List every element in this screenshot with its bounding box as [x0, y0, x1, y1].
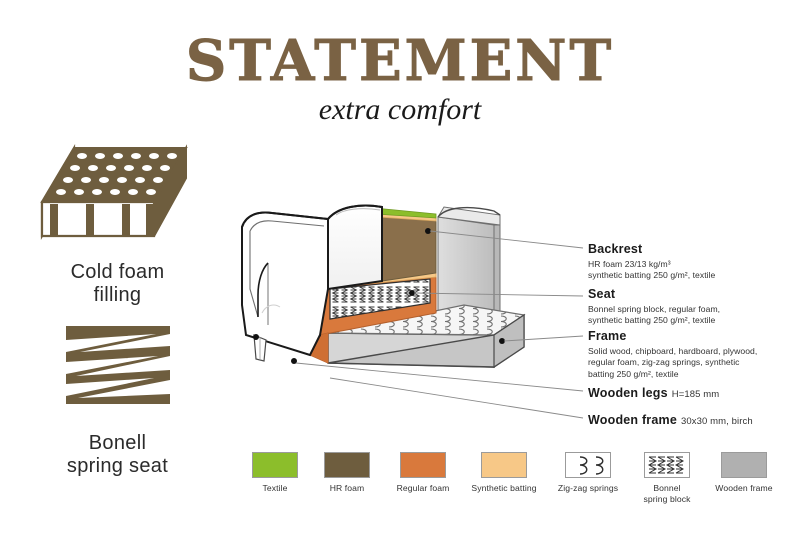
cold-foam-block-icon: [10, 140, 225, 255]
infographic-page: STATEMENT extra comfort: [0, 0, 800, 533]
legend-label-hr-foam: HR foam: [312, 483, 382, 494]
legend-label-zigzag-springs: Zig-zag springs: [546, 483, 630, 494]
legend-swatch-synthetic-batting: [481, 452, 527, 478]
callout-seat-title: Seat: [588, 287, 615, 301]
legend-item-bonnel-spring-block: Bonnel spring block: [630, 452, 704, 504]
feature-bonell-line1: Bonell: [89, 432, 146, 454]
legend-item-zigzag-springs: Zig-zag springs: [546, 452, 630, 494]
legend-swatch-zigzag-springs: [565, 452, 611, 478]
legend-swatch-hr-foam: [324, 452, 370, 478]
feature-bonell-caption: Bonell spring seat: [10, 432, 225, 478]
legend-swatch-wooden-frame: [721, 452, 767, 478]
legend-item-synthetic-batting: Synthetic batting: [462, 452, 546, 494]
page-title: STATEMENT: [0, 33, 800, 89]
legend-label-wooden-frame: Wooden frame: [704, 483, 784, 494]
callout-frame-title: Frame: [588, 329, 627, 343]
callout-frame-body-line2: regular foam, zig-zag springs, synthetic: [588, 357, 740, 367]
callout-frame-body-line1: Solid wood, chipboard, hardboard, plywoo…: [588, 346, 757, 356]
legend-label-bonnel-spring-block: Bonnel spring block: [630, 483, 704, 504]
callout-dot-seat: [409, 290, 415, 296]
callout-wooden-frame-spec: 30x30 mm, birch: [677, 416, 753, 427]
callout-backrest: Backrest HR foam 23/13 kg/m³ synthetic b…: [588, 240, 715, 282]
legend-item-regular-foam: Regular foam: [384, 452, 462, 494]
legend-item-wooden-frame: Wooden frame: [704, 452, 784, 494]
materials-legend: Textile HR foam Regular foam Synthetic b…: [240, 452, 800, 522]
legend-item-hr-foam: HR foam: [312, 452, 382, 494]
callout-backrest-body-line1: HR foam 23/13 kg/m³: [588, 259, 671, 269]
feature-bonell-line2: spring seat: [67, 455, 168, 477]
callout-backrest-title: Backrest: [588, 242, 642, 256]
legend-label-regular-foam: Regular foam: [384, 483, 462, 494]
callout-wooden-legs: Wooden legsH=185 mm: [588, 384, 719, 402]
callout-dot-backrest: [425, 228, 431, 234]
callout-backrest-body-line2: synthetic batting 250 g/m², textile: [588, 270, 715, 280]
legend-label-synthetic-batting: Synthetic batting: [462, 483, 546, 494]
callout-wooden-frame-title: Wooden frame: [588, 413, 677, 427]
feature-cold-foam-caption: Cold foam filling: [10, 261, 225, 307]
feature-cold-foam-line1: Cold foam: [71, 261, 165, 283]
callout-frame-body: Solid wood, chipboard, hardboard, plywoo…: [588, 346, 757, 380]
callout-wooden-frame: Wooden frame30x30 mm, birch: [588, 411, 753, 429]
callout-dot-frame-right: [499, 338, 505, 344]
callout-dot-legs: [253, 334, 259, 340]
callout-seat: Seat Bonnel spring block, regular foam, …: [588, 285, 720, 327]
callout-frame-body-line3: batting 250 g/m², textile: [588, 369, 679, 379]
callout-seat-body-line1: Bonnel spring block, regular foam,: [588, 304, 720, 314]
callout-seat-body-line2: synthetic batting 250 g/m², textile: [588, 315, 715, 325]
feature-cold-foam-line2: filling: [94, 284, 142, 306]
zigzag-spring-icon: [10, 318, 225, 418]
sofa-cutaway-illustration: [232, 185, 592, 415]
legend-swatch-bonnel-spring-block: [644, 452, 690, 478]
callout-wooden-legs-spec: H=185 mm: [668, 389, 720, 400]
legend-item-textile: Textile: [240, 452, 310, 494]
feature-bonell-spring: Bonell spring seat: [10, 318, 225, 478]
feature-cold-foam: Cold foam filling: [10, 140, 225, 307]
callout-backrest-body: HR foam 23/13 kg/m³ synthetic batting 25…: [588, 259, 715, 282]
legend-swatch-textile: [252, 452, 298, 478]
callout-seat-body: Bonnel spring block, regular foam, synth…: [588, 304, 720, 327]
legend-swatch-regular-foam: [400, 452, 446, 478]
callout-dot-frame: [291, 358, 297, 364]
page-subtitle: extra comfort: [0, 95, 800, 125]
legend-label-textile: Textile: [240, 483, 310, 494]
callout-wooden-legs-title: Wooden legs: [588, 386, 668, 400]
callout-frame: Frame Solid wood, chipboard, hardboard, …: [588, 327, 757, 380]
